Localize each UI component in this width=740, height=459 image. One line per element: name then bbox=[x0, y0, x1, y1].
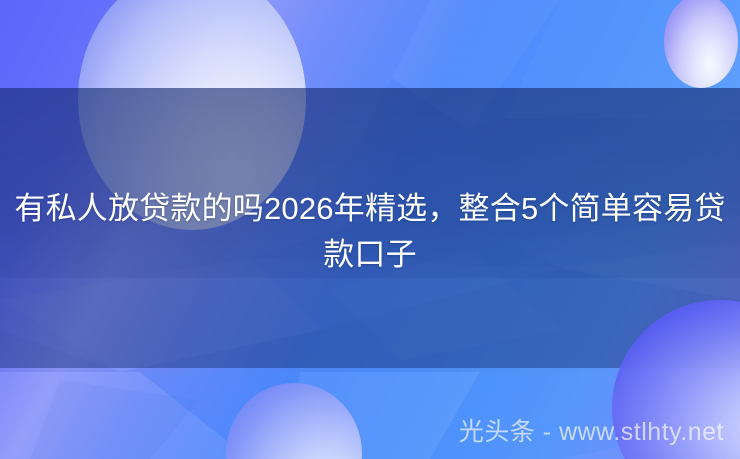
headline-text: 有私人放贷款的吗2026年精选，整合5个简单容易贷款口子 bbox=[0, 186, 740, 278]
watermark-text: 光头条 - www.stlhty.net bbox=[459, 417, 724, 447]
banner-image: 有私人放贷款的吗2026年精选，整合5个简单容易贷款口子 光头条 - www.s… bbox=[0, 0, 740, 459]
